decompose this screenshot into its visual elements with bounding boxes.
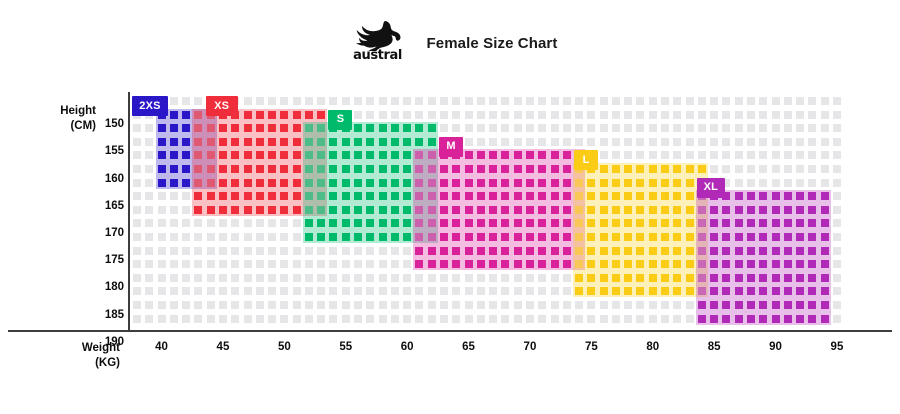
grid-cell-filled bbox=[317, 111, 325, 119]
grid-cell-filled bbox=[698, 315, 706, 323]
grid-cell-empty bbox=[477, 124, 485, 132]
grid-cell-filled bbox=[403, 219, 411, 227]
grid-cell-filled bbox=[452, 247, 460, 255]
grid-cell-filled bbox=[280, 192, 288, 200]
grid-cell-filled bbox=[821, 233, 829, 241]
grid-cell-filled bbox=[538, 247, 546, 255]
grid-cell-filled bbox=[624, 179, 632, 187]
grid-cell-filled bbox=[612, 179, 620, 187]
grid-cell-empty bbox=[158, 233, 166, 241]
grid-cell-empty bbox=[833, 165, 841, 173]
grid-cell-empty bbox=[256, 219, 264, 227]
grid-cell-filled bbox=[636, 206, 644, 214]
grid-cell-empty bbox=[293, 287, 301, 295]
grid-cell-empty bbox=[182, 233, 190, 241]
grid-cell-filled bbox=[600, 247, 608, 255]
grid-cell-filled bbox=[784, 219, 792, 227]
grid-cell-empty bbox=[563, 111, 571, 119]
grid-cell-filled bbox=[673, 233, 681, 241]
grid-cell-filled bbox=[415, 247, 423, 255]
grid-cell-empty bbox=[772, 165, 780, 173]
grid-cell-empty bbox=[342, 315, 350, 323]
grid-cell-empty bbox=[207, 301, 215, 309]
grid-cell-empty bbox=[415, 97, 423, 105]
grid-cell-empty bbox=[489, 287, 497, 295]
grid-cell-filled bbox=[182, 111, 190, 119]
grid-cell-empty bbox=[170, 219, 178, 227]
grid-cell-empty bbox=[612, 315, 620, 323]
grid-cell-empty bbox=[821, 138, 829, 146]
grid-cell-filled bbox=[207, 165, 215, 173]
grid-cell-filled bbox=[661, 247, 669, 255]
x-tick-95: 95 bbox=[831, 341, 844, 353]
grid-cell-filled bbox=[784, 287, 792, 295]
grid-cell-empty bbox=[759, 179, 767, 187]
grid-cell-filled bbox=[563, 192, 571, 200]
grid-cell-empty bbox=[194, 301, 202, 309]
grid-cell-filled bbox=[600, 179, 608, 187]
grid-cell-filled bbox=[772, 315, 780, 323]
grid-cell-empty bbox=[796, 151, 804, 159]
grid-cell-filled bbox=[219, 206, 227, 214]
grid-cell-filled bbox=[636, 165, 644, 173]
grid-cell-empty bbox=[317, 301, 325, 309]
grid-cell-filled bbox=[759, 260, 767, 268]
grid-cell-empty bbox=[551, 111, 559, 119]
grid-cell-empty bbox=[465, 287, 473, 295]
grid-cell-empty bbox=[759, 124, 767, 132]
grid-cell-filled bbox=[428, 165, 436, 173]
grid-cell-empty bbox=[219, 287, 227, 295]
grid-cell-empty bbox=[551, 301, 559, 309]
grid-cell-empty bbox=[698, 124, 706, 132]
grid-cell-empty bbox=[661, 124, 669, 132]
grid-cell-filled bbox=[698, 206, 706, 214]
grid-cell-empty bbox=[722, 97, 730, 105]
grid-cell-empty bbox=[366, 301, 374, 309]
size-badge-m: M bbox=[439, 137, 463, 157]
grid-cell-filled bbox=[305, 233, 313, 241]
grid-cell-filled bbox=[710, 219, 718, 227]
grid-cell-empty bbox=[833, 247, 841, 255]
grid-cell-filled bbox=[686, 260, 694, 268]
grid-cell-empty bbox=[391, 287, 399, 295]
grid-cell-filled bbox=[379, 233, 387, 241]
grid-cell-empty bbox=[133, 287, 141, 295]
grid-cell-empty bbox=[207, 233, 215, 241]
grid-cell-empty bbox=[194, 260, 202, 268]
grid-cell-filled bbox=[796, 301, 804, 309]
grid-cell-empty bbox=[452, 124, 460, 132]
grid-cell-filled bbox=[575, 192, 583, 200]
grid-cell-filled bbox=[403, 151, 411, 159]
grid-cell-empty bbox=[207, 260, 215, 268]
grid-cell-empty bbox=[833, 151, 841, 159]
grid-cell-empty bbox=[710, 138, 718, 146]
grid-cell-empty bbox=[145, 260, 153, 268]
grid-cell-filled bbox=[759, 247, 767, 255]
grid-cell-empty bbox=[722, 151, 730, 159]
grid-cell-filled bbox=[587, 206, 595, 214]
y-tick-165: 165 bbox=[92, 200, 124, 212]
grid-cell-empty bbox=[636, 315, 644, 323]
grid-cell-empty bbox=[722, 111, 730, 119]
grid-cell-filled bbox=[415, 165, 423, 173]
grid-cell-filled bbox=[636, 219, 644, 227]
grid-cell-empty bbox=[293, 301, 301, 309]
grid-cell-filled bbox=[329, 151, 337, 159]
grid-cell-filled bbox=[747, 233, 755, 241]
grid-cell-filled bbox=[415, 206, 423, 214]
grid-cell-empty bbox=[145, 151, 153, 159]
grid-cell-filled bbox=[465, 151, 473, 159]
grid-cell-filled bbox=[440, 179, 448, 187]
grid-cell-empty bbox=[354, 274, 362, 282]
grid-cell-filled bbox=[317, 124, 325, 132]
grid-cell-empty bbox=[772, 151, 780, 159]
grid-cell-empty bbox=[194, 287, 202, 295]
grid-cell-filled bbox=[747, 301, 755, 309]
grid-cell-filled bbox=[808, 287, 816, 295]
grid-cell-empty bbox=[231, 247, 239, 255]
grid-cell-empty bbox=[575, 124, 583, 132]
grid-cell-filled bbox=[747, 287, 755, 295]
grid-cell-filled bbox=[538, 219, 546, 227]
grid-cell-empty bbox=[698, 151, 706, 159]
grid-cell-filled bbox=[772, 274, 780, 282]
grid-cell-empty bbox=[317, 274, 325, 282]
grid-cell-filled bbox=[219, 165, 227, 173]
grid-cell-filled bbox=[329, 165, 337, 173]
grid-cell-empty bbox=[317, 97, 325, 105]
grid-cell-filled bbox=[231, 151, 239, 159]
grid-cell-filled bbox=[673, 165, 681, 173]
grid-cell-empty bbox=[747, 138, 755, 146]
grid-cell-filled bbox=[636, 260, 644, 268]
grid-cell-empty bbox=[194, 315, 202, 323]
grid-cell-empty bbox=[759, 151, 767, 159]
grid-cell-empty bbox=[379, 247, 387, 255]
grid-cell-filled bbox=[465, 206, 473, 214]
grid-cell-empty bbox=[182, 315, 190, 323]
grid-cell-empty bbox=[772, 124, 780, 132]
grid-cell-filled bbox=[747, 247, 755, 255]
grid-cell-filled bbox=[415, 138, 423, 146]
grid-cell-empty bbox=[808, 151, 816, 159]
grid-cell-filled bbox=[354, 138, 362, 146]
grid-cell-filled bbox=[551, 247, 559, 255]
grid-cell-empty bbox=[501, 315, 509, 323]
grid-cell-filled bbox=[575, 179, 583, 187]
grid-cell-empty bbox=[133, 274, 141, 282]
grid-cell-empty bbox=[145, 192, 153, 200]
grid-cell-filled bbox=[698, 301, 706, 309]
grid-cell-filled bbox=[489, 206, 497, 214]
grid-cell-empty bbox=[133, 247, 141, 255]
grid-cell-empty bbox=[587, 138, 595, 146]
grid-cell-empty bbox=[170, 315, 178, 323]
grid-cell-filled bbox=[440, 192, 448, 200]
grid-cell-empty bbox=[219, 233, 227, 241]
grid-cell-filled bbox=[808, 315, 816, 323]
grid-cell-empty bbox=[575, 111, 583, 119]
grid-cell-empty bbox=[452, 97, 460, 105]
grid-cell-empty bbox=[256, 97, 264, 105]
grid-cell-filled bbox=[575, 274, 583, 282]
page-title: Female Size Chart bbox=[427, 35, 558, 52]
grid-cell-empty bbox=[342, 287, 350, 295]
grid-cell-empty bbox=[636, 97, 644, 105]
grid-cell-empty bbox=[501, 274, 509, 282]
grid-cell-empty bbox=[293, 247, 301, 255]
grid-cell-empty bbox=[342, 274, 350, 282]
grid-cell-empty bbox=[821, 151, 829, 159]
grid-cell-empty bbox=[182, 287, 190, 295]
grid-cell-empty bbox=[833, 138, 841, 146]
grid-cell-filled bbox=[698, 260, 706, 268]
grid-cell-empty bbox=[231, 315, 239, 323]
grid-cell-filled bbox=[563, 233, 571, 241]
grid-cell-empty bbox=[145, 287, 153, 295]
grid-cell-empty bbox=[587, 315, 595, 323]
grid-cell-filled bbox=[698, 219, 706, 227]
grid-cell-empty bbox=[735, 165, 743, 173]
grid-cell-filled bbox=[489, 151, 497, 159]
grid-cell-empty bbox=[391, 111, 399, 119]
grid-cell-empty bbox=[452, 111, 460, 119]
grid-cell-filled bbox=[772, 206, 780, 214]
grid-cell-filled bbox=[489, 192, 497, 200]
grid-cell-empty bbox=[379, 315, 387, 323]
grid-cell-empty bbox=[145, 138, 153, 146]
grid-cell-filled bbox=[649, 287, 657, 295]
grid-cell-filled bbox=[305, 179, 313, 187]
grid-cell-empty bbox=[231, 219, 239, 227]
grid-cell-empty bbox=[391, 315, 399, 323]
grid-cell-filled bbox=[624, 192, 632, 200]
grid-cell-empty bbox=[587, 301, 595, 309]
grid-cell-empty bbox=[379, 301, 387, 309]
grid-cell-filled bbox=[636, 274, 644, 282]
grid-cell-filled bbox=[624, 260, 632, 268]
grid-cell-empty bbox=[747, 111, 755, 119]
grid-cell-filled bbox=[636, 179, 644, 187]
grid-cell-filled bbox=[514, 233, 522, 241]
grid-cell-filled bbox=[624, 165, 632, 173]
grid-cell-filled bbox=[329, 206, 337, 214]
grid-cell-filled bbox=[759, 206, 767, 214]
grid-cell-empty bbox=[403, 97, 411, 105]
grid-cell-empty bbox=[305, 274, 313, 282]
grid-cell-filled bbox=[649, 206, 657, 214]
grid-cell-filled bbox=[563, 260, 571, 268]
grid-cell-filled bbox=[342, 206, 350, 214]
grid-cell-empty bbox=[673, 138, 681, 146]
grid-cell-filled bbox=[403, 124, 411, 132]
grid-cell-filled bbox=[710, 301, 718, 309]
grid-cell-empty bbox=[293, 97, 301, 105]
grid-cell-empty bbox=[784, 179, 792, 187]
grid-cell-filled bbox=[735, 206, 743, 214]
grid-cell-empty bbox=[158, 274, 166, 282]
grid-cell-empty bbox=[366, 260, 374, 268]
grid-cell-filled bbox=[587, 179, 595, 187]
grid-cell-filled bbox=[354, 219, 362, 227]
grid-cell-empty bbox=[600, 124, 608, 132]
grid-cell-empty bbox=[600, 138, 608, 146]
grid-cell-filled bbox=[415, 260, 423, 268]
grid-cell-filled bbox=[342, 165, 350, 173]
grid-cell-filled bbox=[551, 179, 559, 187]
grid-cell-filled bbox=[231, 179, 239, 187]
grid-cell-filled bbox=[796, 315, 804, 323]
grid-cell-empty bbox=[710, 111, 718, 119]
grid-cell-empty bbox=[612, 97, 620, 105]
x-axis-tick-labels: 404550556065707580859095 bbox=[0, 341, 900, 357]
grid-cell-empty bbox=[268, 97, 276, 105]
grid-cell-filled bbox=[735, 219, 743, 227]
grid-cell-empty bbox=[796, 138, 804, 146]
grid-cell-filled bbox=[538, 192, 546, 200]
grid-cell-filled bbox=[624, 247, 632, 255]
grid-cell-empty bbox=[391, 301, 399, 309]
y-tick-160: 160 bbox=[92, 173, 124, 185]
grid-cell-filled bbox=[465, 192, 473, 200]
grid-cell-empty bbox=[268, 219, 276, 227]
grid-cell-filled bbox=[747, 315, 755, 323]
grid-cell-empty bbox=[305, 301, 313, 309]
grid-cell-empty bbox=[501, 111, 509, 119]
grid-cell-empty bbox=[575, 301, 583, 309]
grid-cell-empty bbox=[354, 301, 362, 309]
grid-cell-filled bbox=[796, 260, 804, 268]
grid-cell-empty bbox=[772, 111, 780, 119]
grid-cell-filled bbox=[784, 315, 792, 323]
grid-cell-filled bbox=[808, 260, 816, 268]
grid-cell-filled bbox=[796, 247, 804, 255]
grid-cell-empty bbox=[833, 179, 841, 187]
grid-cell-filled bbox=[317, 165, 325, 173]
grid-cell-filled bbox=[575, 219, 583, 227]
grid-cell-filled bbox=[686, 192, 694, 200]
grid-cell-filled bbox=[661, 219, 669, 227]
grid-cell-empty bbox=[686, 124, 694, 132]
grid-cell-filled bbox=[244, 124, 252, 132]
y-tick-175: 175 bbox=[92, 254, 124, 266]
grid-cell-filled bbox=[477, 179, 485, 187]
grid-cell-empty bbox=[403, 111, 411, 119]
x-axis-line bbox=[8, 330, 892, 332]
grid-cell-filled bbox=[158, 165, 166, 173]
grid-cell-empty bbox=[551, 274, 559, 282]
grid-cell-filled bbox=[551, 192, 559, 200]
grid-cell-empty bbox=[182, 260, 190, 268]
grid-cell-empty bbox=[796, 179, 804, 187]
grid-cell-empty bbox=[833, 124, 841, 132]
grid-cell-filled bbox=[587, 274, 595, 282]
grid-cell-empty bbox=[538, 124, 546, 132]
x-tick-70: 70 bbox=[524, 341, 537, 353]
grid-cell-empty bbox=[735, 151, 743, 159]
grid-cell-empty bbox=[170, 206, 178, 214]
grid-cell-empty bbox=[514, 287, 522, 295]
grid-cell-empty bbox=[649, 111, 657, 119]
grid-cell-filled bbox=[526, 260, 534, 268]
grid-cell-filled bbox=[587, 233, 595, 241]
grid-cell-empty bbox=[624, 138, 632, 146]
x-tick-65: 65 bbox=[462, 341, 475, 353]
grid-cell-filled bbox=[636, 233, 644, 241]
grid-cell-filled bbox=[526, 247, 534, 255]
grid-cell-filled bbox=[673, 179, 681, 187]
grid-cell-empty bbox=[551, 138, 559, 146]
grid-cell-filled bbox=[354, 192, 362, 200]
grid-cell-filled bbox=[710, 287, 718, 295]
grid-cell-filled bbox=[722, 247, 730, 255]
grid-cell-filled bbox=[293, 179, 301, 187]
grid-cell-filled bbox=[194, 179, 202, 187]
grid-cell-empty bbox=[833, 219, 841, 227]
grid-cell-filled bbox=[158, 179, 166, 187]
grid-cell-filled bbox=[600, 260, 608, 268]
grid-cell-filled bbox=[501, 151, 509, 159]
grid-cell-filled bbox=[182, 165, 190, 173]
x-tick-45: 45 bbox=[217, 341, 230, 353]
grid-cell-empty bbox=[587, 124, 595, 132]
grid-cell-filled bbox=[784, 192, 792, 200]
grid-cell-empty bbox=[244, 274, 252, 282]
grid-cell-empty bbox=[784, 97, 792, 105]
grid-cell-empty bbox=[465, 315, 473, 323]
y-tick-185: 185 bbox=[92, 309, 124, 321]
grid-cell-empty bbox=[563, 124, 571, 132]
grid-cell-filled bbox=[575, 247, 583, 255]
grid-cell-filled bbox=[440, 219, 448, 227]
grid-cell-filled bbox=[440, 233, 448, 241]
grid-cell-empty bbox=[808, 124, 816, 132]
grid-cell-empty bbox=[219, 219, 227, 227]
grid-cell-filled bbox=[600, 192, 608, 200]
grid-cell-filled bbox=[772, 192, 780, 200]
grid-cell-empty bbox=[661, 138, 669, 146]
grid-cell-filled bbox=[305, 219, 313, 227]
grid-cell-empty bbox=[133, 206, 141, 214]
grid-cell-empty bbox=[538, 138, 546, 146]
y-tick-155: 155 bbox=[92, 145, 124, 157]
grid-cell-empty bbox=[158, 260, 166, 268]
grid-cell-filled bbox=[821, 260, 829, 268]
grid-cell-empty bbox=[256, 301, 264, 309]
grid-cell-empty bbox=[305, 287, 313, 295]
grid-cell-filled bbox=[317, 179, 325, 187]
grid-cell-filled bbox=[735, 260, 743, 268]
grid-cell-empty bbox=[514, 124, 522, 132]
grid-cell-empty bbox=[219, 260, 227, 268]
grid-cell-empty bbox=[207, 247, 215, 255]
grid-cell-filled bbox=[342, 138, 350, 146]
grid-cell-filled bbox=[784, 260, 792, 268]
y-axis-line bbox=[128, 92, 130, 330]
grid-cell-empty bbox=[145, 219, 153, 227]
grid-cell-filled bbox=[305, 151, 313, 159]
grid-cell-empty bbox=[145, 301, 153, 309]
grid-cell-filled bbox=[538, 233, 546, 241]
grid-cell-filled bbox=[772, 287, 780, 295]
grid-cell-empty bbox=[231, 233, 239, 241]
grid-cell-filled bbox=[600, 219, 608, 227]
grid-cell-empty bbox=[833, 233, 841, 241]
grid-cell-empty bbox=[551, 287, 559, 295]
